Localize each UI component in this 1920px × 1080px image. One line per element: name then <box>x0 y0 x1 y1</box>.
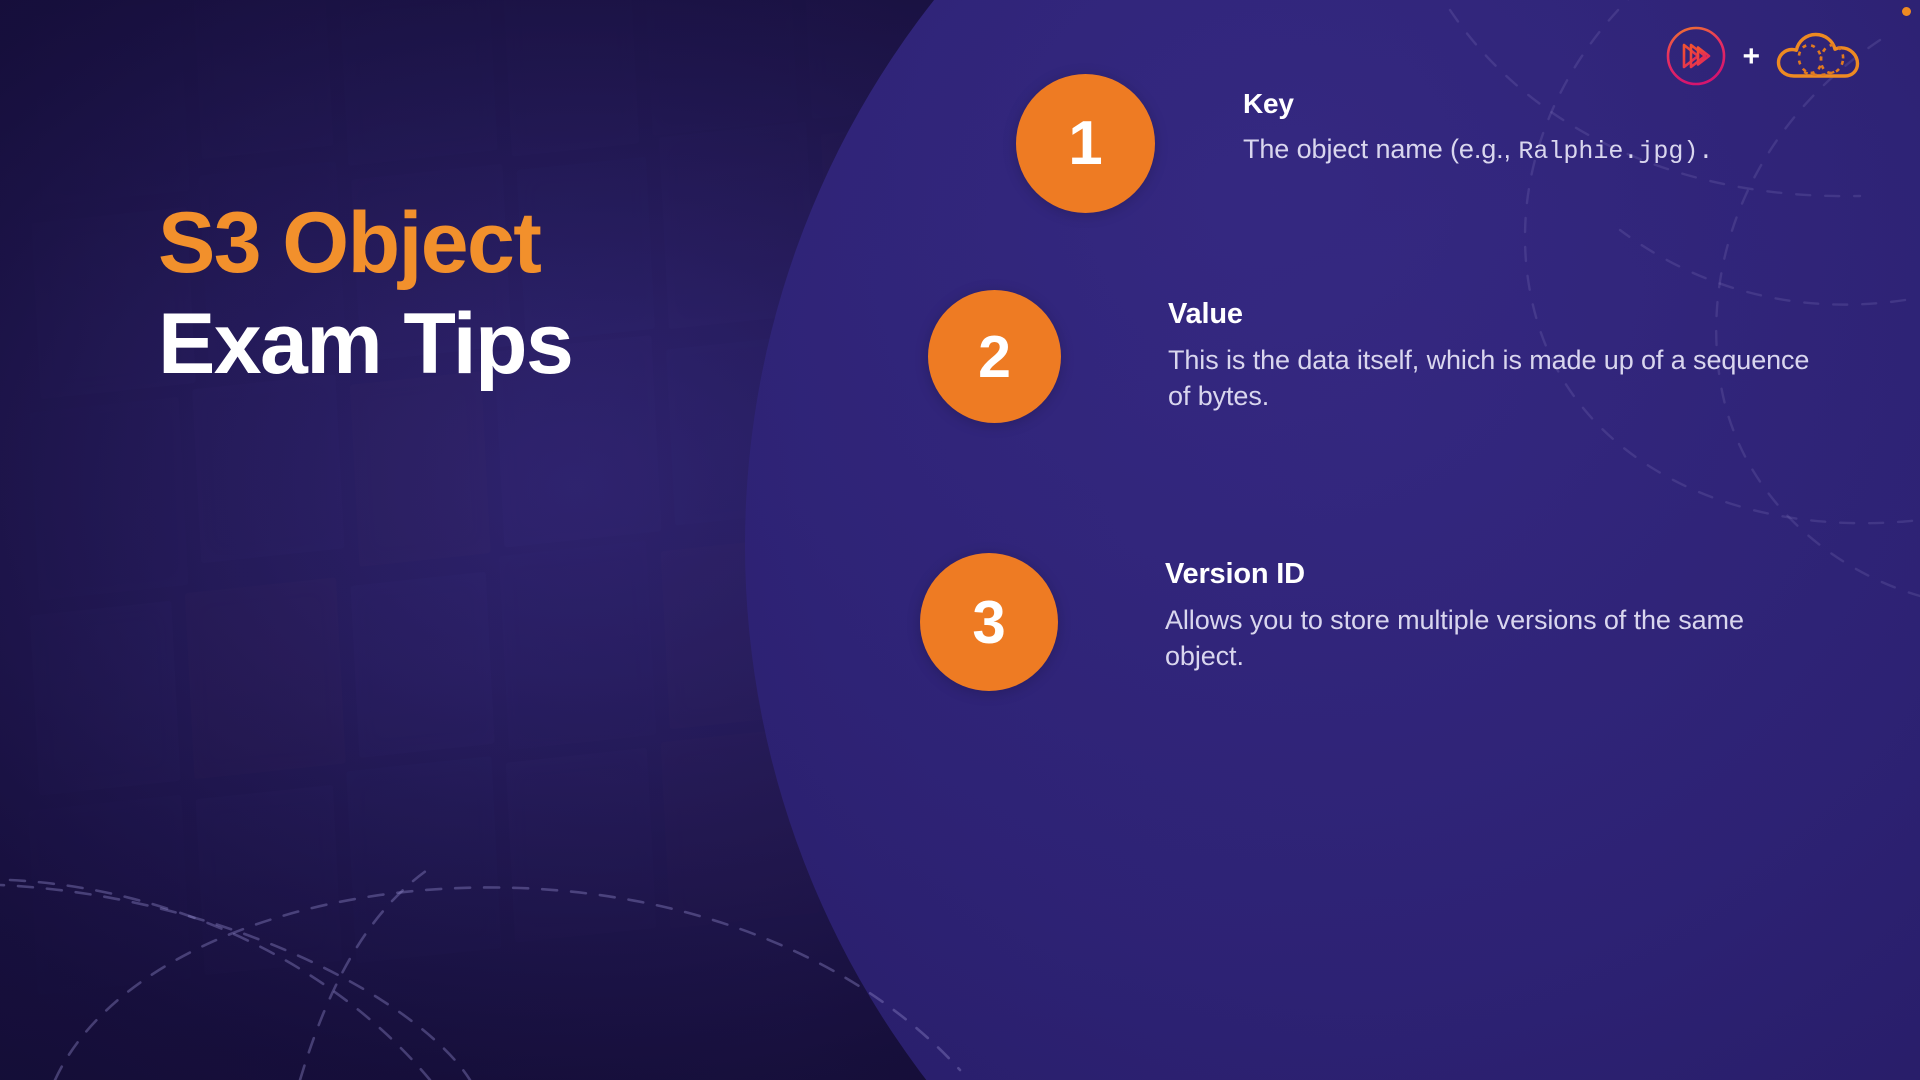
item-body-1-prefix: The object name (e.g., <box>1243 134 1518 164</box>
item-body-1: The object name (e.g., Ralphie.jpg). <box>1243 132 1883 168</box>
item-body-3: Allows you to store multiple versions of… <box>1165 603 1785 674</box>
play-circle-logo-icon <box>1664 24 1728 88</box>
item-text-2: Value This is the data itself, which is … <box>1168 298 1828 414</box>
logo-lockup: + <box>1664 24 1878 88</box>
item-text-1: Key The object name (e.g., Ralphie.jpg). <box>1243 88 1883 168</box>
item-heading-1: Key <box>1243 88 1883 120</box>
item-body-1-suffix: ). <box>1683 137 1713 166</box>
plus-icon: + <box>1742 42 1760 72</box>
item-heading-2: Value <box>1168 298 1828 331</box>
number-badge-2: 2 <box>928 290 1061 423</box>
item-body-1-filename: Ralphie.jpg <box>1518 137 1683 166</box>
item-text-3: Version ID Allows you to store multiple … <box>1165 558 1785 674</box>
number-badge-3: 3 <box>920 553 1058 691</box>
cloud-outline-logo-icon <box>1774 24 1878 88</box>
item-heading-3: Version ID <box>1165 558 1785 591</box>
item-body-2: This is the data itself, which is made u… <box>1168 343 1828 414</box>
slide-canvas: S3 Object Exam Tips 1 Key The object nam… <box>0 0 1920 1080</box>
numbered-items-list: 1 Key The object name (e.g., Ralphie.jpg… <box>0 0 1920 1080</box>
number-badge-1: 1 <box>1016 74 1155 213</box>
